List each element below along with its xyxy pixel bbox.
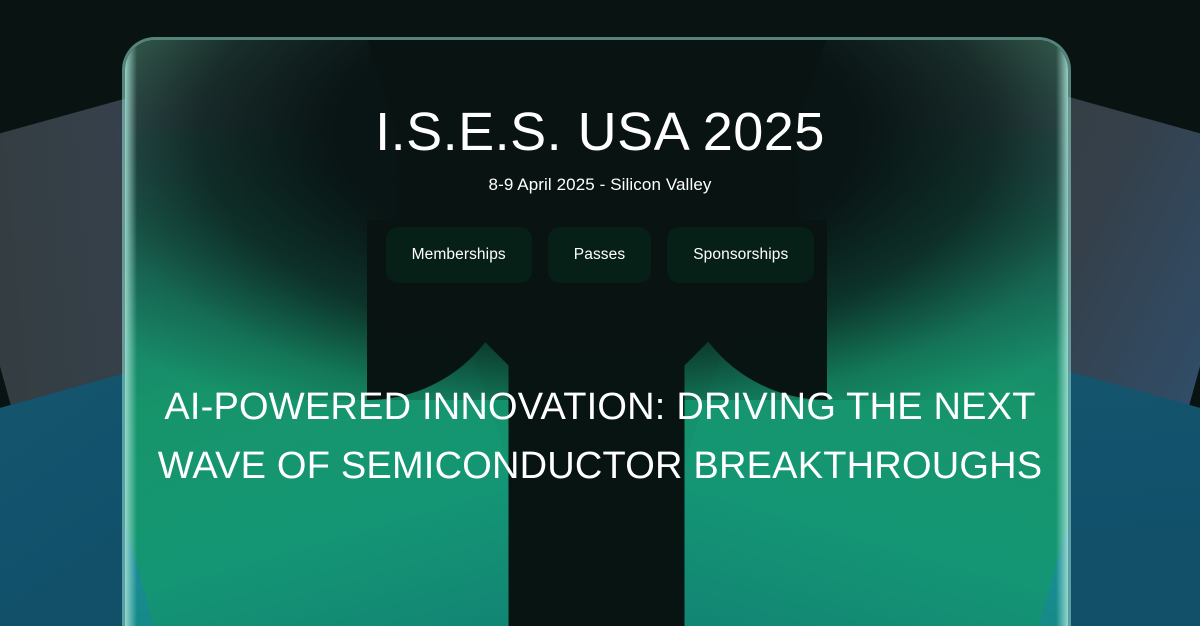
hero-banner: I.S.E.S. USA 2025 8-9 April 2025 - Silic…	[0, 0, 1200, 626]
headline-line-2: WAVE OF SEMICONDUCTOR BREAKTHROUGHS	[70, 437, 1130, 496]
headline: AI-POWERED INNOVATION: DRIVING THE NEXT …	[0, 378, 1200, 496]
hero-content: I.S.E.S. USA 2025 8-9 April 2025 - Silic…	[0, 0, 1200, 626]
event-subtitle: 8-9 April 2025 - Silicon Valley	[0, 175, 1200, 195]
headline-line-1: AI-POWERED INNOVATION: DRIVING THE NEXT	[70, 378, 1130, 437]
sponsorships-button[interactable]: Sponsorships	[667, 227, 814, 283]
event-title: I.S.E.S. USA 2025	[0, 0, 1200, 161]
memberships-button[interactable]: Memberships	[386, 227, 532, 283]
passes-button[interactable]: Passes	[548, 227, 651, 283]
cta-button-row: Memberships Passes Sponsorships	[0, 227, 1200, 283]
